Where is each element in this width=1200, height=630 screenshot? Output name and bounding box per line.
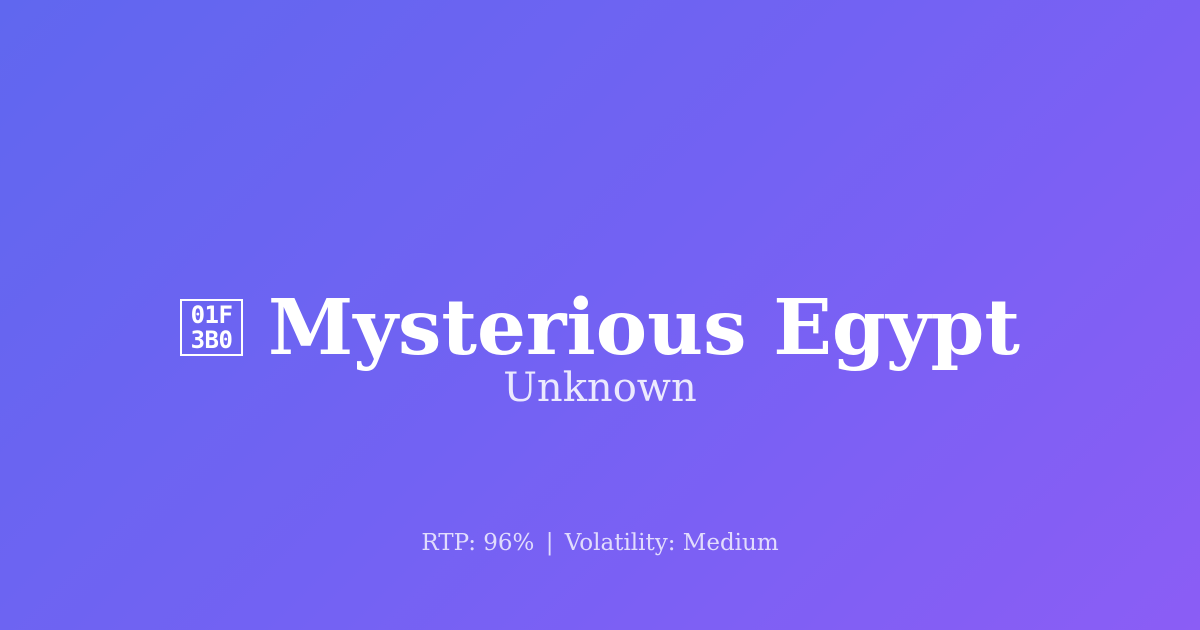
game-provider: Unknown: [0, 363, 1200, 413]
game-preview-card: 01F 3B0 Mysterious Egypt Unknown RTP: 96…: [0, 0, 1200, 630]
slot-machine-emoji-tofu-icon: 01F 3B0: [180, 299, 243, 356]
meta-separator: |: [542, 530, 558, 556]
game-meta: RTP: 96% | Volatility: Medium: [0, 528, 1200, 558]
tofu-codepoint-bottom: 3B0: [191, 328, 233, 353]
volatility-value: Volatility: Medium: [565, 530, 779, 556]
rtp-value: RTP: 96%: [421, 530, 534, 556]
tofu-codepoint-top: 01F: [191, 303, 233, 328]
game-title: Mysterious Egypt: [268, 283, 1020, 373]
